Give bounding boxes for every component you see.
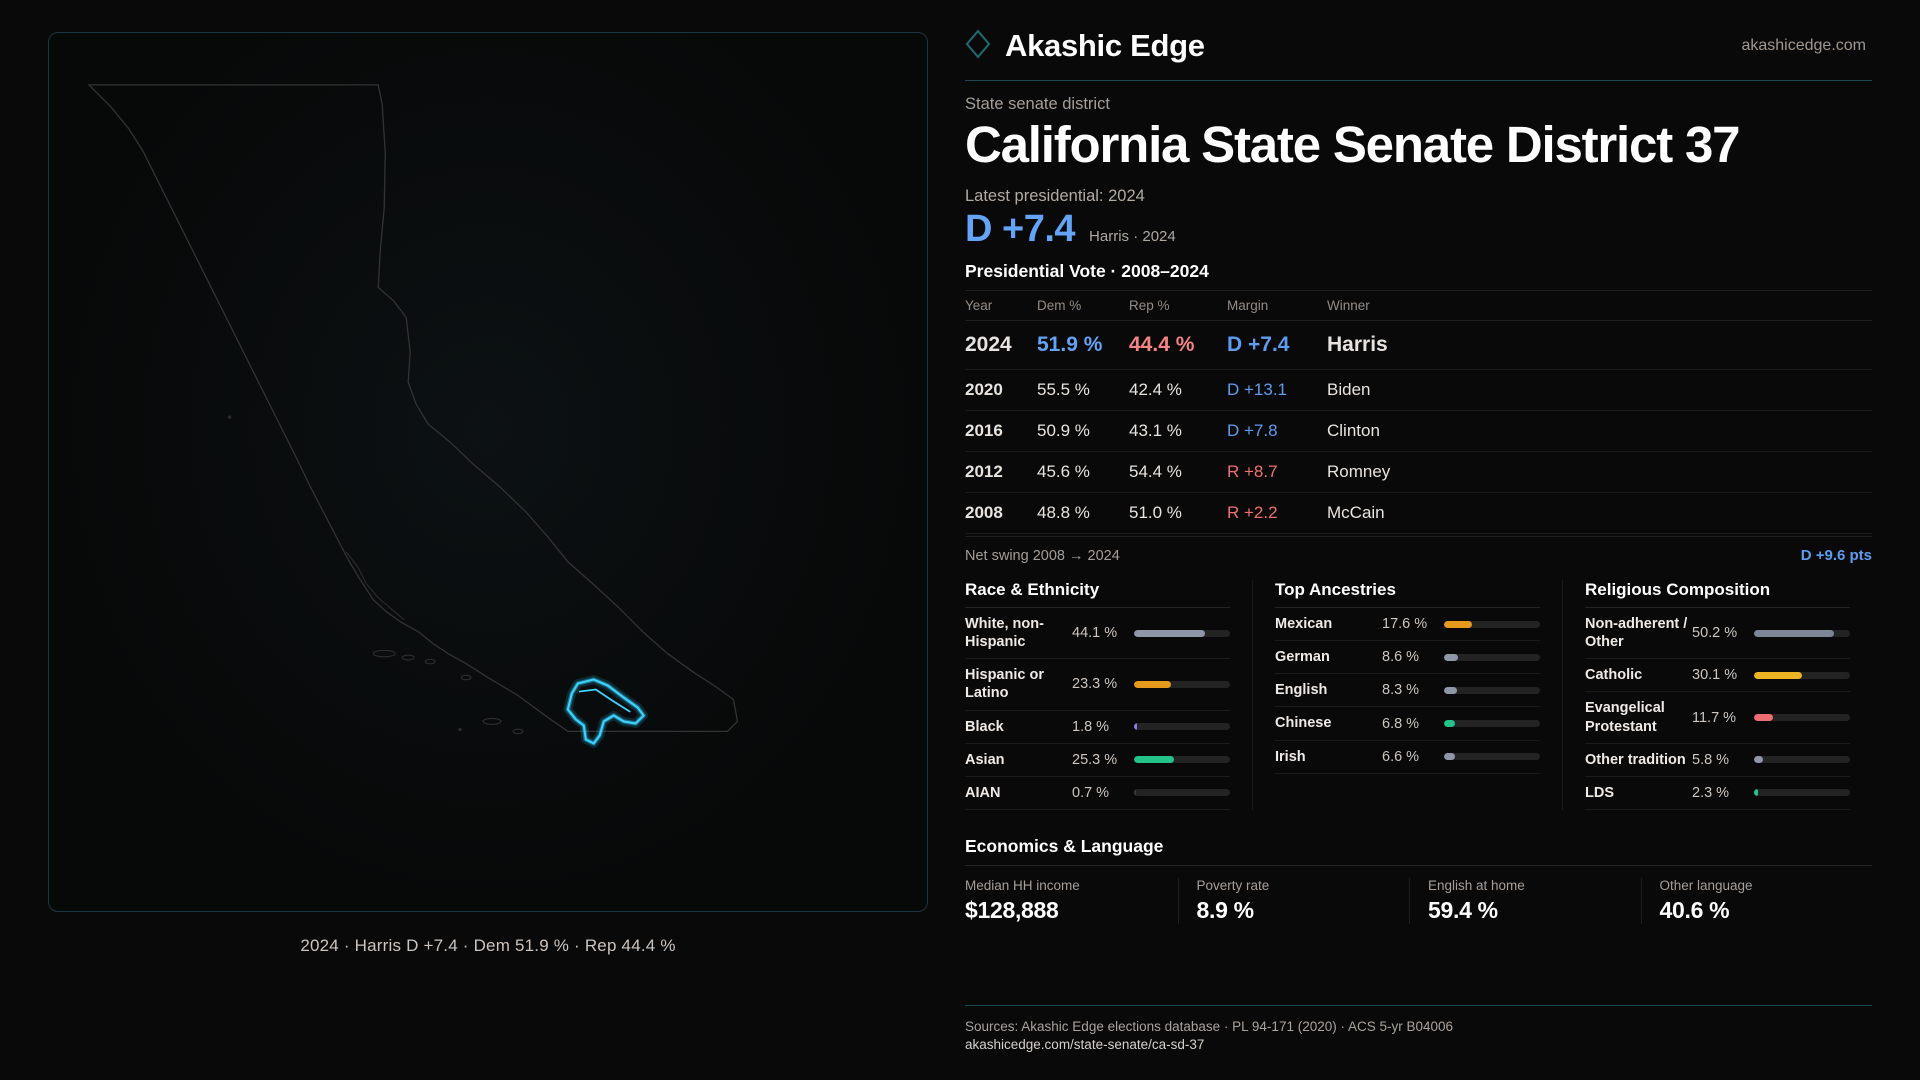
table-header-row: YearDem %Rep %MarginWinner [965, 291, 1872, 321]
demo-bar-track [1754, 714, 1850, 721]
demo-bar-track [1134, 681, 1230, 688]
demo-bar-track [1134, 789, 1230, 796]
demo-row: Asian25.3 % [965, 744, 1230, 777]
brand-site[interactable]: akashicedge.com [1741, 37, 1866, 55]
demo-label: Non-adherent / Other [1585, 615, 1692, 651]
demo-row: Black1.8 % [965, 711, 1230, 744]
econ-label: Median HH income [965, 878, 1160, 893]
report-panel: Akashic Edge akashicedge.com State senat… [955, 0, 1920, 1080]
demo-row: Irish6.6 % [1275, 741, 1540, 774]
district-highlight[interactable] [568, 680, 644, 744]
demo-bar-track [1754, 789, 1850, 796]
cell-year: 2012 [965, 452, 1037, 493]
demo-row: White, non-Hispanic44.1 % [965, 608, 1230, 659]
demo-column-title: Race & Ethnicity [965, 580, 1230, 600]
econ-cell: Poverty rate8.9 % [1178, 878, 1410, 924]
demo-value: 6.6 % [1382, 749, 1444, 765]
demo-bar-track [1444, 720, 1540, 727]
cell-year: 2008 [965, 493, 1037, 534]
demo-label: Catholic [1585, 666, 1692, 684]
cell-dem-pct: 50.9 % [1037, 411, 1129, 452]
page-kicker: State senate district [965, 95, 1872, 114]
demo-bar-fill [1754, 630, 1834, 637]
demo-bar-track [1444, 654, 1540, 661]
demo-label: Evangelical Protestant [1585, 699, 1692, 735]
demo-row: English8.3 % [1275, 674, 1540, 707]
cell-dem-pct: 51.9 % [1037, 321, 1129, 370]
table-row[interactable]: 201650.9 %43.1 %D +7.8Clinton [965, 411, 1872, 452]
table-row[interactable]: 200848.8 %51.0 %R +2.2McCain [965, 493, 1872, 534]
demo-bar-fill [1444, 687, 1457, 694]
header-divider [965, 80, 1872, 81]
report-page: 2024 · Harris D +7.4 · Dem 51.9 % · Rep … [0, 0, 1920, 1080]
econ-label: Poverty rate [1197, 878, 1392, 893]
demo-bar-fill [1134, 756, 1174, 763]
footer-sources: Sources: Akashic Edge elections database… [965, 1017, 1872, 1037]
demo-row-list: White, non-Hispanic44.1 %Hispanic or Lat… [965, 607, 1230, 810]
demo-label: Black [965, 718, 1072, 736]
island-shape [483, 718, 501, 724]
demo-label: LDS [1585, 784, 1692, 802]
econ-cell: Other language40.6 % [1641, 878, 1873, 924]
demo-bar-track [1754, 672, 1850, 679]
demo-bar-fill [1444, 654, 1458, 661]
demo-column-2: Religious CompositionNon-adherent / Othe… [1562, 580, 1872, 810]
demo-column-0: Race & EthnicityWhite, non-Hispanic44.1 … [965, 580, 1252, 810]
demo-value: 23.3 % [1072, 676, 1134, 692]
diamond-icon [965, 29, 991, 64]
cell-margin: D +7.8 [1227, 411, 1327, 452]
island-shape [373, 650, 395, 656]
demo-value: 5.8 % [1692, 752, 1754, 768]
demo-row: LDS2.3 % [1585, 777, 1850, 810]
demographics-section: Race & EthnicityWhite, non-Hispanic44.1 … [965, 580, 1872, 810]
demo-bar-fill [1444, 720, 1455, 727]
demo-bar-fill [1754, 789, 1758, 796]
cell-winner: Clinton [1327, 411, 1872, 452]
cell-rep-pct: 51.0 % [1129, 493, 1227, 534]
table-row[interactable]: 202055.5 %42.4 %D +13.1Biden [965, 370, 1872, 411]
demo-label: Irish [1275, 748, 1382, 766]
demo-value: 11.7 % [1692, 710, 1754, 726]
latest-margin-sub: Harris · 2024 [1089, 228, 1176, 245]
map-dot [228, 416, 231, 419]
demo-label: Chinese [1275, 714, 1382, 732]
demo-label: AIAN [965, 784, 1072, 802]
demo-bar-fill [1754, 756, 1763, 763]
demo-label: German [1275, 648, 1382, 666]
footer: Sources: Akashic Edge elections database… [965, 1005, 1872, 1052]
demo-label: English [1275, 681, 1382, 699]
demo-value: 8.6 % [1382, 649, 1444, 665]
cell-winner: Romney [1327, 452, 1872, 493]
demo-bar-fill [1444, 621, 1472, 628]
demo-bar-track [1134, 756, 1230, 763]
demo-label: Asian [965, 751, 1072, 769]
footer-divider [965, 1005, 1872, 1006]
island-shape [425, 659, 435, 663]
econ-value: 8.9 % [1197, 897, 1392, 924]
demo-bar-fill [1134, 630, 1205, 637]
latest-margin-row: D +7.4 Harris · 2024 [965, 208, 1872, 251]
demo-label: Mexican [1275, 615, 1382, 633]
demo-row: Chinese6.8 % [1275, 707, 1540, 740]
table-col-header-4: Winner [1327, 291, 1872, 321]
demo-value: 50.2 % [1692, 625, 1754, 641]
state-map[interactable] [48, 32, 928, 912]
california-outline [89, 85, 738, 732]
econ-cell: Median HH income$128,888 [965, 878, 1178, 924]
cell-winner: Harris [1327, 321, 1872, 370]
demo-row-list: Non-adherent / Other50.2 %Catholic30.1 %… [1585, 607, 1850, 810]
cell-dem-pct: 48.8 % [1037, 493, 1129, 534]
demo-value: 0.7 % [1072, 785, 1134, 801]
demo-column-1: Top AncestriesMexican17.6 %German8.6 %En… [1252, 580, 1562, 810]
map-caption: 2024 · Harris D +7.4 · Dem 51.9 % · Rep … [48, 936, 928, 956]
econ-label: Other language [1660, 878, 1855, 893]
demo-bar-fill [1754, 672, 1802, 679]
cell-year: 2024 [965, 321, 1037, 370]
map-panel: 2024 · Harris D +7.4 · Dem 51.9 % · Rep … [0, 0, 955, 1080]
latest-margin-value: D +7.4 [965, 208, 1075, 251]
latest-presidential-label: Latest presidential: 2024 [965, 187, 1872, 206]
cell-winner: Biden [1327, 370, 1872, 411]
demo-value: 8.3 % [1382, 682, 1444, 698]
demo-row-list: Mexican17.6 %German8.6 %English8.3 %Chin… [1275, 607, 1540, 774]
cell-margin: D +13.1 [1227, 370, 1327, 411]
cell-rep-pct: 43.1 % [1129, 411, 1227, 452]
demo-bar-fill [1134, 789, 1136, 796]
net-swing-label: Net swing 2008 → 2024 [965, 548, 1120, 564]
demo-value: 30.1 % [1692, 667, 1754, 683]
table-col-header-3: Margin [1227, 291, 1327, 321]
island-shape [461, 675, 471, 679]
page-title: California State Senate District 37 [965, 116, 1872, 173]
cell-rep-pct: 44.4 % [1129, 321, 1227, 370]
demo-row: Mexican17.6 % [1275, 608, 1540, 641]
net-swing-row: Net swing 2008 → 2024 D +9.6 pts [965, 536, 1872, 564]
demo-label: White, non-Hispanic [965, 615, 1072, 651]
demo-row: Evangelical Protestant11.7 % [1585, 692, 1850, 743]
demo-row: German8.6 % [1275, 641, 1540, 674]
cell-year: 2016 [965, 411, 1037, 452]
map-dot [458, 728, 461, 731]
demo-label: Hispanic or Latino [965, 666, 1072, 702]
demo-value: 25.3 % [1072, 752, 1134, 768]
brand-row: Akashic Edge akashicedge.com [965, 28, 1872, 64]
table-row[interactable]: 201245.6 %54.4 %R +8.7Romney [965, 452, 1872, 493]
cell-margin: R +8.7 [1227, 452, 1327, 493]
cell-dem-pct: 55.5 % [1037, 370, 1129, 411]
cell-margin: R +2.2 [1227, 493, 1327, 534]
cell-margin: D +7.4 [1227, 321, 1327, 370]
brand-name: Akashic Edge [1005, 28, 1205, 64]
demo-bar-track [1444, 621, 1540, 628]
economics-title: Economics & Language [965, 836, 1872, 857]
demo-bar-track [1134, 630, 1230, 637]
island-shape [402, 655, 414, 660]
demo-value: 6.8 % [1382, 716, 1444, 732]
econ-value: 59.4 % [1428, 897, 1623, 924]
demo-bar-track [1444, 753, 1540, 760]
econ-value: 40.6 % [1660, 897, 1855, 924]
table-row[interactable]: 202451.9 %44.4 %D +7.4Harris [965, 321, 1872, 370]
demo-bar-track [1754, 756, 1850, 763]
net-swing-value: D +9.6 pts [1801, 547, 1872, 564]
island-shape [513, 729, 523, 733]
econ-label: English at home [1428, 878, 1623, 893]
demo-value: 1.8 % [1072, 719, 1134, 735]
presidential-vote-title: Presidential Vote · 2008–2024 [965, 261, 1872, 282]
demo-row: AIAN0.7 % [965, 777, 1230, 810]
presidential-vote-table: YearDem %Rep %MarginWinner 202451.9 %44.… [965, 290, 1872, 534]
demo-bar-fill [1754, 714, 1773, 721]
demo-bar-fill [1134, 723, 1137, 730]
cell-rep-pct: 42.4 % [1129, 370, 1227, 411]
demo-row: Other tradition5.8 % [1585, 744, 1850, 777]
footer-url[interactable]: akashicedge.com/state-senate/ca-sd-37 [965, 1037, 1872, 1052]
demo-column-title: Religious Composition [1585, 580, 1850, 600]
demo-row: Non-adherent / Other50.2 % [1585, 608, 1850, 659]
brand-left: Akashic Edge [965, 28, 1205, 64]
coast-detail [346, 552, 404, 620]
cell-year: 2020 [965, 370, 1037, 411]
cell-winner: McCain [1327, 493, 1872, 534]
cell-rep-pct: 54.4 % [1129, 452, 1227, 493]
demo-bar-fill [1444, 753, 1455, 760]
demo-bar-track [1444, 687, 1540, 694]
demo-bar-track [1754, 630, 1850, 637]
econ-cell: English at home59.4 % [1409, 878, 1641, 924]
demo-label: Other tradition [1585, 751, 1692, 769]
table-col-header-2: Rep % [1129, 291, 1227, 321]
economics-grid: Median HH income$128,888Poverty rate8.9 … [965, 865, 1872, 924]
demo-column-title: Top Ancestries [1275, 580, 1540, 600]
demo-row: Hispanic or Latino23.3 % [965, 659, 1230, 710]
cell-dem-pct: 45.6 % [1037, 452, 1129, 493]
demo-value: 17.6 % [1382, 616, 1444, 632]
demo-value: 2.3 % [1692, 785, 1754, 801]
demo-bar-track [1134, 723, 1230, 730]
demo-bar-fill [1134, 681, 1171, 688]
econ-value: $128,888 [965, 897, 1160, 924]
demo-value: 44.1 % [1072, 625, 1134, 641]
table-col-header-0: Year [965, 291, 1037, 321]
demo-row: Catholic30.1 % [1585, 659, 1850, 692]
table-col-header-1: Dem % [1037, 291, 1129, 321]
california-map-svg [49, 33, 927, 911]
